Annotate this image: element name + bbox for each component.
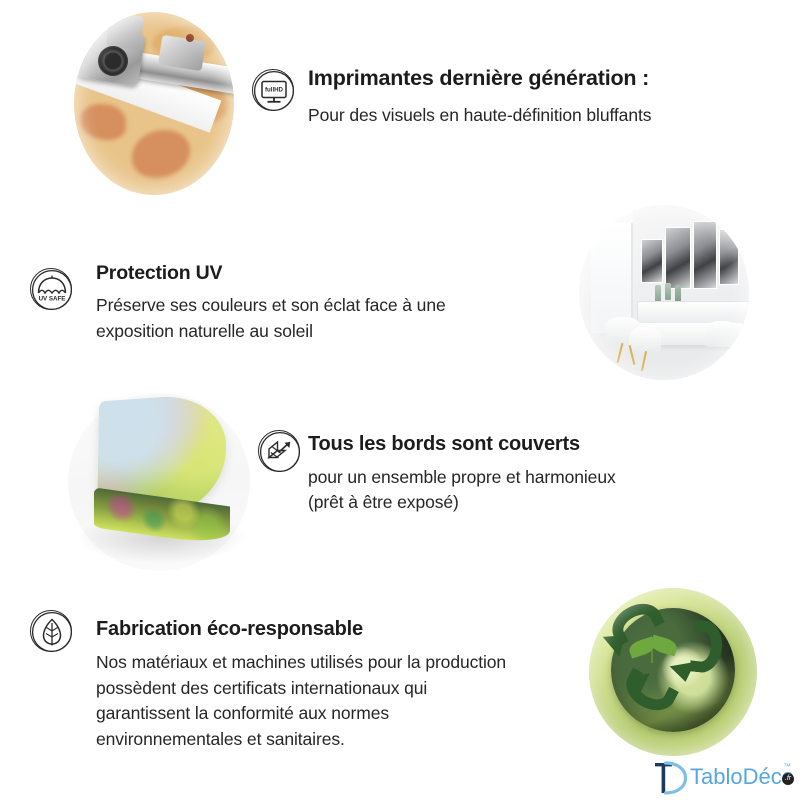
wall-art-panel bbox=[693, 221, 717, 289]
svg-text:fullHD: fullHD bbox=[265, 87, 284, 94]
td-monogram-icon bbox=[652, 759, 690, 797]
leaf-stem bbox=[651, 650, 653, 663]
map-continent-shape bbox=[132, 130, 190, 178]
trademark-symbol: ™ bbox=[783, 762, 791, 771]
wall-art-panel bbox=[665, 227, 691, 289]
printer-world-map-photo bbox=[74, 12, 234, 195]
domain-badge: .fr bbox=[782, 773, 794, 785]
feature-title: Protection UV bbox=[96, 262, 222, 285]
feature-info-graphic: fullHD Imprimantes dernière génération :… bbox=[0, 0, 800, 800]
decor-bottle bbox=[675, 285, 681, 302]
feature-body-line: garantissent la conformité aux normes bbox=[96, 701, 506, 727]
chair-leg bbox=[617, 343, 624, 363]
decor-bottle bbox=[655, 285, 661, 302]
printer-head-top bbox=[106, 12, 145, 50]
chair bbox=[705, 321, 739, 347]
feature-title: Fabrication éco-responsable bbox=[96, 618, 363, 641]
feature-body: Nos matériaux et machines utilisés pour … bbox=[96, 650, 506, 752]
printer-indicator-dot bbox=[186, 34, 194, 42]
umbrella-uv-safe-icon: UV SAFE bbox=[30, 268, 72, 310]
interior-dining-room-photo bbox=[579, 205, 749, 380]
feature-body-line: (prêt à être exposé) bbox=[308, 490, 616, 515]
feature-body: Préserve ses couleurs et son éclat face … bbox=[96, 292, 446, 344]
feature-body-line: possèdent des certificats internationaux… bbox=[96, 676, 506, 702]
feature-body-line: pour un ensemble propre et harmonieux bbox=[308, 465, 616, 490]
feature-title: Imprimantes dernière génération : bbox=[308, 66, 649, 91]
brand-logo[interactable]: TabloDéco ™ .fr bbox=[652, 758, 794, 798]
feature-body-line: Préserve ses couleurs et son éclat face … bbox=[96, 292, 446, 318]
canvas-corner-photo bbox=[68, 393, 250, 571]
svg-text:UV SAFE: UV SAFE bbox=[39, 295, 66, 302]
logo-wordmark: TabloDéco bbox=[690, 764, 794, 790]
feature-body-line: Pour des visuels en haute-définition blu… bbox=[308, 103, 651, 127]
feature-body-line: Nos matériaux et machines utilisés pour … bbox=[96, 650, 506, 676]
feature-body: Pour des visuels en haute-définition blu… bbox=[308, 103, 651, 127]
decor-bottle bbox=[665, 283, 671, 300]
feature-title: Tous les bords sont couverts bbox=[308, 433, 580, 456]
wall-art-panel bbox=[719, 229, 739, 285]
feature-body-line: environnementales et sanitaires. bbox=[96, 727, 506, 753]
feature-body: pour un ensemble propre et harmonieux (p… bbox=[308, 465, 616, 515]
leaf-icon bbox=[30, 610, 72, 652]
eco-globe-recycle-photo bbox=[589, 588, 757, 756]
map-continent-shape bbox=[80, 104, 126, 140]
feature-body-line: exposition naturelle au soleil bbox=[96, 318, 446, 344]
chair bbox=[629, 327, 661, 353]
wrapped-edge-arrow-icon bbox=[258, 430, 300, 472]
monitor-fullhd-icon: fullHD bbox=[252, 69, 294, 111]
wall-art-panel bbox=[641, 239, 663, 283]
